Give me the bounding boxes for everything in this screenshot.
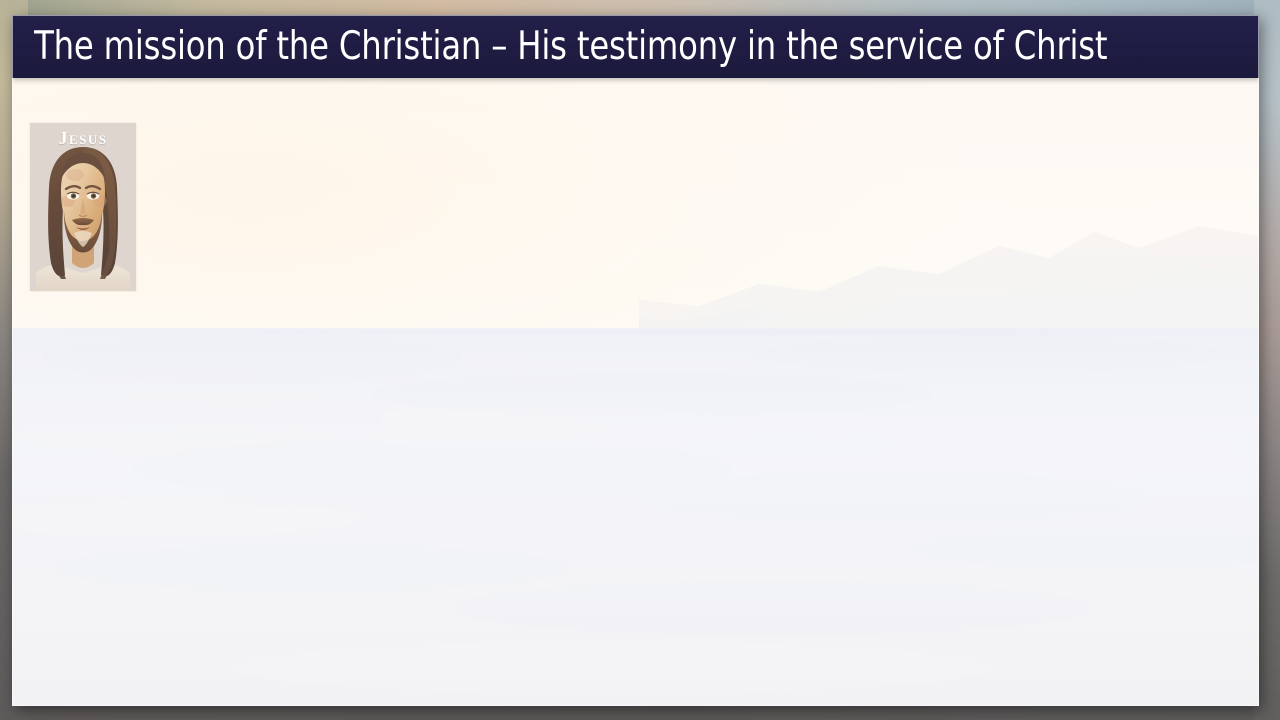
background-warm-glow — [12, 78, 947, 455]
presentation-frame: Jesus — [0, 0, 1280, 720]
background-texture — [12, 298, 1259, 706]
background-ridge-silhouette — [639, 196, 1259, 336]
jesus-portrait-icon — [30, 123, 136, 291]
background-cool-wash — [12, 328, 1259, 706]
slide-content-area: Jesus — [12, 78, 1259, 706]
jesus-portrait-image[interactable]: Jesus — [30, 123, 136, 291]
background-horizon-line — [12, 330, 1259, 334]
slide-canvas[interactable]: Jesus — [12, 15, 1259, 706]
slide-title-bar[interactable]: The mission of the Christian – His testi… — [12, 15, 1259, 78]
page-title: The mission of the Christian – His testi… — [12, 27, 1107, 66]
